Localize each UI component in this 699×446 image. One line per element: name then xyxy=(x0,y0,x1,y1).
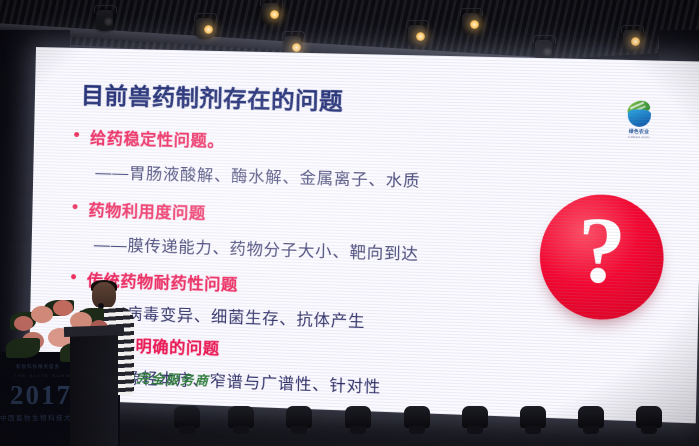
floor-light-icon xyxy=(345,406,371,428)
floor-light-icon xyxy=(578,406,604,428)
stage-light-icon xyxy=(96,10,113,31)
backdrop-bottom-line: 中国畜牧生物科技大会 xyxy=(0,412,80,422)
bullet-sub-label: ——膜传递能力、药物分子大小、靶向到达 xyxy=(94,231,419,265)
slide-title: 目前兽药制剂存在的问题 xyxy=(81,76,344,116)
floor-light-icon xyxy=(462,406,488,428)
question-mark-graphic: ? xyxy=(539,193,665,322)
stage-light-icon xyxy=(462,13,479,34)
stage-light-icon xyxy=(196,18,213,39)
stage-light-icon xyxy=(623,30,640,51)
floor-light-icon xyxy=(636,406,662,428)
question-mark-glyph: ? xyxy=(539,201,665,299)
bullet-item: 给药稳定性问题。 xyxy=(74,124,225,152)
bullet-dot-icon xyxy=(71,274,76,279)
bullet-item: 药物利用度问题 xyxy=(72,196,206,224)
stage-light-icon xyxy=(408,25,425,46)
podium-top xyxy=(64,325,124,337)
podium xyxy=(70,332,118,446)
floor-light-icon xyxy=(404,406,430,428)
stage-light-icon xyxy=(262,3,279,24)
logo-mark-icon xyxy=(624,101,654,128)
bullet-dot-icon xyxy=(74,132,79,137)
water-drop-icon xyxy=(628,109,652,127)
floor-light-icon xyxy=(174,406,200,428)
floor-light-icon xyxy=(286,406,312,428)
bullet-sub-label: ——胃肠液酸解、酶水解、金属离子、水质 xyxy=(95,159,420,192)
conference-photo-stage: 目前兽药制剂存在的问题 绿色农业 GREEN AGRI 给药稳定性问题。 ——胃… xyxy=(0,0,699,446)
floor-light-icon xyxy=(520,406,546,428)
backdrop-year: 2017 xyxy=(10,380,72,411)
logo-en-text: GREEN AGRI xyxy=(620,135,658,140)
bullet-label: 给药稳定性问题。 xyxy=(90,124,225,152)
company-logo: 绿色农业 GREEN AGRI xyxy=(620,101,659,143)
backdrop-sub-line: THE ELITE SUMMIT xyxy=(14,374,78,378)
bullet-label: 药物利用度问题 xyxy=(88,197,206,224)
bullet-dot-icon xyxy=(73,204,78,209)
backdrop-top-line: 新锐科技精英盛会 xyxy=(16,364,60,370)
floor-light-icon xyxy=(228,406,254,428)
